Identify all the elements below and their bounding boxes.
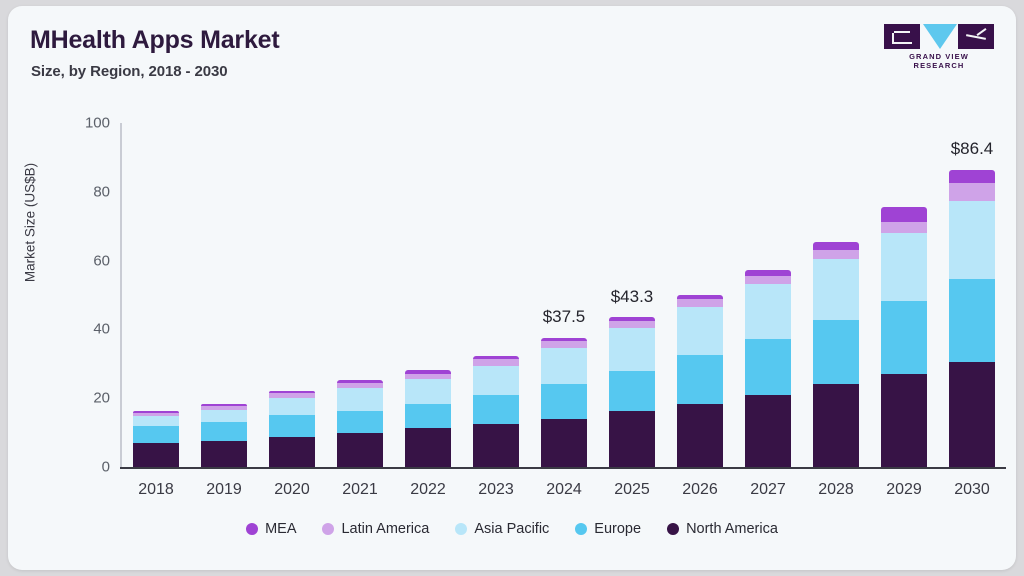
bar-segment-europe[interactable] <box>881 301 927 374</box>
bar-segment-asia-pacific[interactable] <box>201 410 247 422</box>
y-axis-tick-label: 20 <box>50 390 110 407</box>
bar-group[interactable] <box>201 123 247 467</box>
legend-item-mea[interactable]: MEA <box>246 521 296 537</box>
bar-segment-north-america[interactable] <box>881 374 927 467</box>
bar-segment-asia-pacific[interactable] <box>133 416 179 426</box>
bar-segment-mea[interactable] <box>337 380 383 383</box>
bar-segment-europe[interactable] <box>269 415 315 436</box>
y-axis-title: Market Size (US$B) <box>23 138 38 308</box>
logo-monogram <box>884 24 994 49</box>
legend-swatch-icon <box>575 523 587 535</box>
bar-segment-mea[interactable] <box>881 207 927 222</box>
bar-segment-mea[interactable] <box>201 404 247 406</box>
bar-segment-europe[interactable] <box>745 339 791 395</box>
bar-segment-europe[interactable] <box>677 355 723 404</box>
y-axis-tick-label: 0 <box>50 459 110 476</box>
y-axis-tick-label: 40 <box>50 321 110 338</box>
chart-legend: MEALatin AmericaAsia PacificEuropeNorth … <box>8 521 1016 537</box>
y-axis-tick-label: 60 <box>50 252 110 269</box>
bar-segment-north-america[interactable] <box>949 362 995 467</box>
legend-label: Europe <box>594 521 641 537</box>
bar-group[interactable] <box>881 123 927 467</box>
bar-segment-europe[interactable] <box>541 384 587 418</box>
bar-segment-mea[interactable] <box>405 370 451 373</box>
bar-segment-asia-pacific[interactable] <box>745 284 791 339</box>
bar-segment-mea[interactable] <box>813 242 859 250</box>
legend-item-north-america[interactable]: North America <box>667 521 778 537</box>
bar-segment-mea[interactable] <box>269 391 315 394</box>
bar-segment-latin-america[interactable] <box>133 413 179 416</box>
x-axis-tick-label: 2030 <box>912 481 1016 499</box>
bar-segment-asia-pacific[interactable] <box>949 201 995 278</box>
bar-segment-mea[interactable] <box>133 411 179 413</box>
bar-segment-asia-pacific[interactable] <box>405 379 451 404</box>
legend-item-asia-pacific[interactable]: Asia Pacific <box>455 521 549 537</box>
bar-segment-asia-pacific[interactable] <box>677 307 723 355</box>
bar-group[interactable] <box>337 123 383 467</box>
bar-segment-europe[interactable] <box>337 411 383 433</box>
bar-segment-latin-america[interactable] <box>813 250 859 259</box>
bar-segment-north-america[interactable] <box>541 419 587 467</box>
legend-label: MEA <box>265 521 296 537</box>
bar-segment-asia-pacific[interactable] <box>813 259 859 320</box>
bar-segment-latin-america[interactable] <box>269 393 315 397</box>
logo-triangle-v-icon <box>923 24 957 49</box>
bar-segment-north-america[interactable] <box>133 443 179 467</box>
bar-segment-north-america[interactable] <box>677 404 723 467</box>
bar-segment-north-america[interactable] <box>813 384 859 467</box>
bar-segment-europe[interactable] <box>201 422 247 442</box>
legend-swatch-icon <box>455 523 467 535</box>
bar-segment-asia-pacific[interactable] <box>269 398 315 416</box>
y-axis-tick-label: 100 <box>50 115 110 132</box>
bar-group[interactable] <box>133 123 179 467</box>
bar-group[interactable] <box>813 123 859 467</box>
bar-segment-europe[interactable] <box>405 404 451 428</box>
grand-view-research-logo: GRAND VIEW RESEARCH <box>884 24 994 64</box>
bar-segment-europe[interactable] <box>473 395 519 424</box>
bar-value-label: $86.4 <box>912 139 1016 159</box>
bar-segment-asia-pacific[interactable] <box>609 328 655 371</box>
legend-label: Asia Pacific <box>474 521 549 537</box>
bar-segment-north-america[interactable] <box>405 428 451 467</box>
bar-segment-latin-america[interactable] <box>473 359 519 365</box>
bar-segment-asia-pacific[interactable] <box>881 233 927 301</box>
logo-text: GRAND VIEW RESEARCH <box>884 52 994 70</box>
bar-segment-asia-pacific[interactable] <box>473 366 519 395</box>
bar-value-label: $43.3 <box>572 287 692 307</box>
bar-segment-latin-america[interactable] <box>405 374 451 380</box>
chart-card: MHealth Apps Market Size, by Region, 201… <box>8 6 1016 570</box>
bar-segment-mea[interactable] <box>949 170 995 183</box>
x-axis-line <box>120 467 1006 469</box>
legend-item-latin-america[interactable]: Latin America <box>322 521 429 537</box>
page-title: MHealth Apps Market <box>30 26 279 55</box>
screenshot-root: MHealth Apps Market Size, by Region, 201… <box>0 0 1024 576</box>
bar-value-label: $37.5 <box>504 307 624 327</box>
bar-segment-latin-america[interactable] <box>881 222 927 233</box>
logo-g-glyph-icon <box>892 33 912 44</box>
bar-segment-north-america[interactable] <box>473 424 519 467</box>
bar-segment-north-america[interactable] <box>745 395 791 467</box>
bar-segment-europe[interactable] <box>949 279 995 363</box>
bar-group[interactable] <box>949 123 995 467</box>
legend-label: Latin America <box>341 521 429 537</box>
bar-segment-asia-pacific[interactable] <box>541 348 587 384</box>
legend-swatch-icon <box>246 523 258 535</box>
bar-segment-latin-america[interactable] <box>201 406 247 409</box>
bar-segment-north-america[interactable] <box>337 433 383 467</box>
bar-group[interactable] <box>405 123 451 467</box>
legend-label: North America <box>686 521 778 537</box>
bar-plot-area <box>122 123 1006 467</box>
legend-swatch-icon <box>322 523 334 535</box>
bar-group[interactable] <box>473 123 519 467</box>
bar-group[interactable] <box>745 123 791 467</box>
y-axis-tick-label: 80 <box>50 183 110 200</box>
bar-segment-latin-america[interactable] <box>337 383 383 387</box>
bar-segment-north-america[interactable] <box>609 411 655 467</box>
y-axis-ticks: 020406080100 <box>44 123 110 467</box>
bar-segment-europe[interactable] <box>133 426 179 443</box>
bar-segment-europe[interactable] <box>813 320 859 384</box>
bar-segment-europe[interactable] <box>609 371 655 412</box>
bar-segment-latin-america[interactable] <box>949 183 995 202</box>
bar-segment-mea[interactable] <box>541 338 587 342</box>
bar-segment-latin-america[interactable] <box>541 341 587 348</box>
bar-segment-latin-america[interactable] <box>745 276 791 284</box>
chart-subtitle: Size, by Region, 2018 - 2030 <box>31 63 227 80</box>
bar-segment-mea[interactable] <box>473 356 519 360</box>
legend-item-europe[interactable]: Europe <box>575 521 641 537</box>
legend-swatch-icon <box>667 523 679 535</box>
bar-segment-mea[interactable] <box>745 270 791 276</box>
bar-group[interactable] <box>269 123 315 467</box>
logo-r-glyph-icon <box>966 32 986 42</box>
bar-segment-north-america[interactable] <box>201 441 247 467</box>
bar-segment-asia-pacific[interactable] <box>337 388 383 411</box>
bar-segment-north-america[interactable] <box>269 437 315 467</box>
